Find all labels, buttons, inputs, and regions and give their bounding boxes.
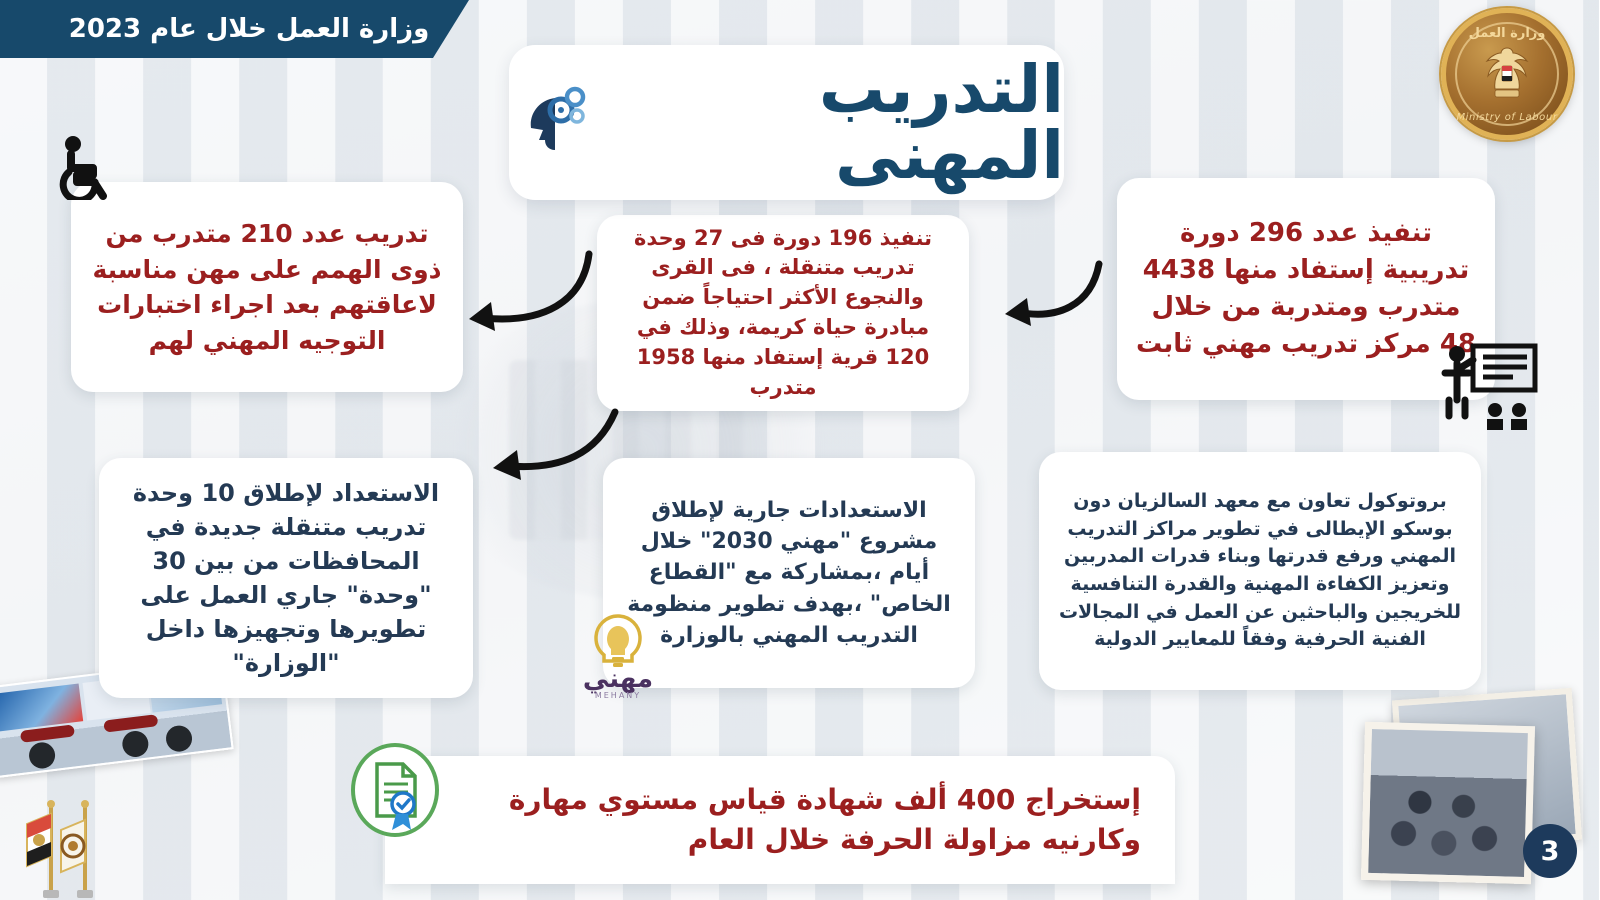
mehany-bulb-gear-icon xyxy=(588,612,650,672)
head-gears-icon xyxy=(510,80,592,166)
header-banner-label: وزارة العمل خلال عام 2023 xyxy=(40,14,431,44)
truck-wheel xyxy=(29,741,58,770)
card-text: تنفيذ 196 دورة فى 27 وحدة تدريب متنقلة ،… xyxy=(616,224,952,403)
card-text: تنفيذ عدد 296 دورة تدريبية إستفاد منها 4… xyxy=(1136,215,1478,363)
ministry-of-labour-seal-icon: وزارة العمل Ministry of Labour xyxy=(1442,8,1574,140)
card-new-mobile-units: الاستعداد لإطلاق 10 وحدة تدريب متنقلة جد… xyxy=(100,458,474,698)
flow-arrow-top xyxy=(444,232,604,342)
certificate-icon xyxy=(348,742,444,838)
flow-arrow-middle xyxy=(466,392,626,492)
mehany-english-label: MEHANY xyxy=(596,691,642,700)
mehany-logo: مهني MEHANY xyxy=(566,612,672,718)
header-banner: وزارة العمل خلال عام 2023 xyxy=(0,0,470,58)
truck-wheel xyxy=(122,729,151,758)
mehany-arabic-label: مهني xyxy=(584,668,654,691)
page-title-card: التدريب المهنى xyxy=(510,45,1065,200)
page-title: التدريب المهنى xyxy=(606,57,1065,189)
card-mobile-training-units: تنفيذ 196 دورة فى 27 وحدة تدريب متنقلة ،… xyxy=(598,215,970,411)
card-text: الاستعدادات جارية لإطلاق مشروع "مهني 203… xyxy=(622,495,958,651)
card-text: إستخراج 400 ألف شهادة قياس مستوي مهارة و… xyxy=(404,780,1142,860)
seal-english-label: Ministry of Labour xyxy=(1447,112,1569,123)
card-text: الاستعداد لإطلاق 10 وحدة تدريب متنقلة جد… xyxy=(118,476,456,680)
card-salesian-don-bosco-protocol: بروتوكول تعاون مع معهد السالزيان دون بوس… xyxy=(1040,452,1482,690)
card-skill-certificates: إستخراج 400 ألف شهادة قياس مستوي مهارة و… xyxy=(386,756,1176,884)
truck-wheel xyxy=(166,724,195,753)
seal-arabic-label: وزارة العمل xyxy=(1447,26,1569,41)
card-text: تدريب عدد 210 متدرب من ذوى الهمم على مهن… xyxy=(90,216,446,358)
egypt-and-ministry-flags-icon xyxy=(18,790,136,900)
wheelchair-accessibility-icon xyxy=(52,134,118,200)
card-text: بروتوكول تعاون مع معهد السالزيان دون بوس… xyxy=(1058,488,1464,653)
page-number-badge: 3 xyxy=(1524,824,1578,878)
group-photo-front xyxy=(1362,722,1536,884)
trainer-presentation-icon xyxy=(1434,340,1539,430)
card-training-people-with-disabilities: تدريب عدد 210 متدرب من ذوى الهمم على مهن… xyxy=(72,182,464,392)
flow-arrow-right xyxy=(992,250,1112,340)
